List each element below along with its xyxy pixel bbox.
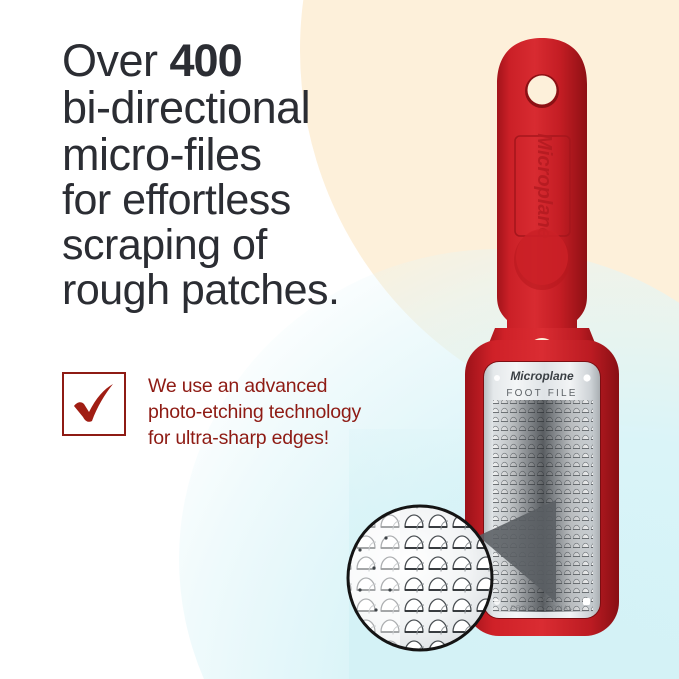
magnifier-lens [348,506,498,656]
blade-rivet [583,598,590,605]
handle-brand-emboss: Microplane [533,133,555,239]
headline-line-4: for effortless [62,179,462,222]
headline-line-1: Over 400 [62,38,462,83]
headline-line-6: rough patches. [62,269,462,312]
headline-line-3: micro-files [62,132,462,177]
callout-text-block: We use an advanced photo-etching technol… [148,372,361,452]
blade-brand-text: Microplane [510,369,574,383]
headline-emphasis-count: 400 [170,35,242,86]
headline-block: Over 400 bi-directional micro-files for … [62,38,462,312]
headline-line-1-prefix: Over [62,35,170,86]
feature-callout: We use an advanced photo-etching technol… [62,372,361,452]
blade-rivet [583,374,590,381]
checkmark-box [62,372,126,436]
headline-line-5: scraping of [62,224,462,267]
magnifier-callout [330,490,560,660]
blade-rivet [494,375,500,381]
callout-line-3: for ultra-sharp edges! [148,426,361,452]
blade-label-text: FOOT FILE [506,388,577,399]
marketing-image: Over 400 bi-directional micro-files for … [0,0,679,679]
headline-line-2: bi-directional [62,85,462,130]
callout-line-2: photo-etching technology [148,400,361,426]
checkmark-icon [64,374,124,434]
product-handle: Microplane [497,38,587,334]
callout-line-1: We use an advanced [148,374,361,400]
